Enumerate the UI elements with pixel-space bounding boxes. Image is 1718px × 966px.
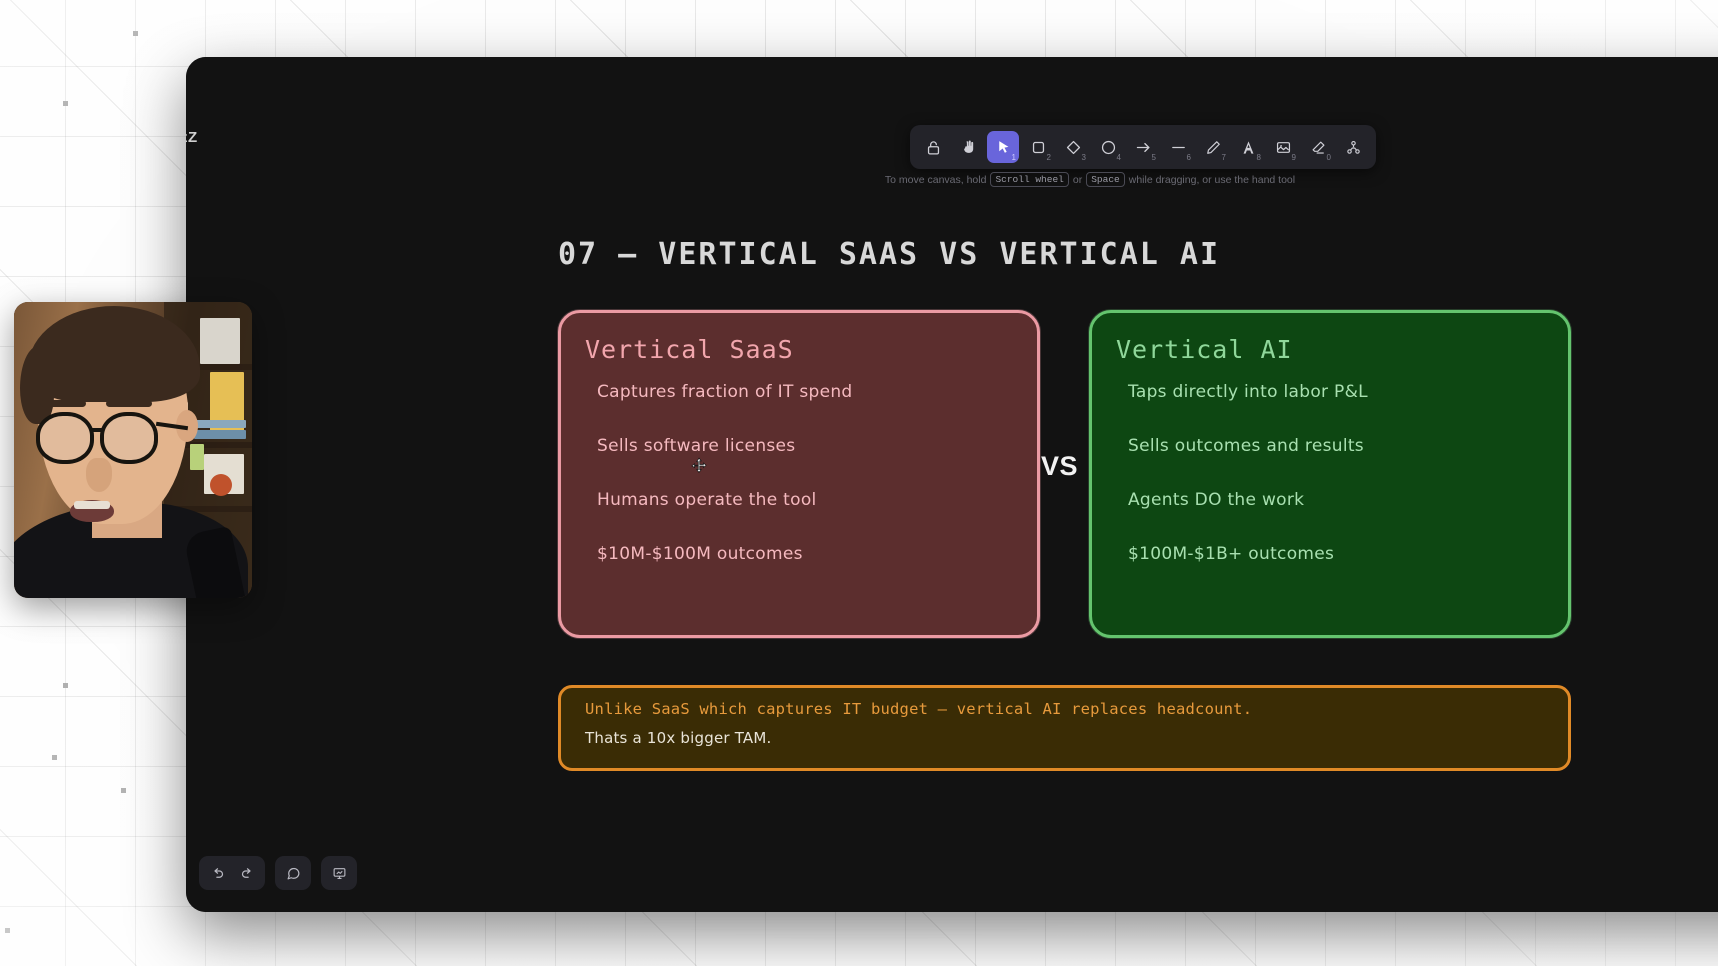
presenter-eyebrow xyxy=(40,400,86,407)
list-item: Sells software licenses xyxy=(597,436,1013,456)
hint-middle: or xyxy=(1073,174,1082,186)
presenter-teeth xyxy=(74,501,110,509)
callout-box[interactable]: Unlike SaaS which captures IT budget — v… xyxy=(558,685,1571,771)
card-vertical-saas[interactable]: Vertical SaaS Captures fraction of IT sp… xyxy=(558,310,1040,638)
text-icon[interactable]: 8 xyxy=(1232,131,1264,163)
hint-key-space: Space xyxy=(1086,172,1125,187)
tool-shortcut: 7 xyxy=(1222,153,1226,162)
card-title: Vertical AI xyxy=(1116,335,1544,364)
excalidraw-window: zZ 1 2 3 xyxy=(186,57,1718,912)
card-title: Vertical SaaS xyxy=(585,335,1013,364)
hand-icon[interactable] xyxy=(952,131,984,163)
list-item: Sells outcomes and results xyxy=(1128,436,1544,456)
presenter-webcam-overlay[interactable] xyxy=(14,302,252,598)
tool-shortcut: 6 xyxy=(1187,153,1191,162)
history-button-group xyxy=(199,856,265,890)
presenter-nose xyxy=(86,458,112,492)
line-icon[interactable]: 6 xyxy=(1162,131,1194,163)
list-item: Agents DO the work xyxy=(1128,490,1544,510)
arrow-icon[interactable]: 5 xyxy=(1127,131,1159,163)
tool-shortcut: 1 xyxy=(1012,153,1016,162)
move-cursor-icon xyxy=(690,457,708,475)
tool-shortcut: 2 xyxy=(1047,153,1051,162)
hint-suffix: while dragging, or use the hand tool xyxy=(1129,174,1295,186)
card-bullet-list: Captures fraction of IT spend Sells soft… xyxy=(585,382,1013,564)
lock-icon[interactable] xyxy=(917,131,949,163)
list-item: $10M-$100M outcomes xyxy=(597,544,1013,564)
callout-secondary-text: Thats a 10x bigger TAM. xyxy=(585,729,1544,747)
tool-shortcut: 3 xyxy=(1082,153,1086,162)
comment-button-group xyxy=(275,856,311,890)
comment-button[interactable] xyxy=(279,860,307,886)
window-corner-label: zZ xyxy=(186,129,198,146)
list-item: $100M-$1B+ outcomes xyxy=(1128,544,1544,564)
tool-shortcut: 9 xyxy=(1292,153,1296,162)
undo-button[interactable] xyxy=(203,860,231,886)
card-bullet-list: Taps directly into labor P&L Sells outco… xyxy=(1116,382,1544,564)
tool-shortcut: 5 xyxy=(1152,153,1156,162)
presenter-hair-side xyxy=(20,346,54,424)
list-item: Humans operate the tool xyxy=(597,490,1013,510)
image-icon[interactable]: 9 xyxy=(1267,131,1299,163)
list-item: Captures fraction of IT spend xyxy=(597,382,1013,402)
canvas-hint: To move canvas, hold Scroll wheel or Spa… xyxy=(910,172,1270,187)
presentation-button[interactable] xyxy=(325,860,353,886)
page-title: 07 — VERTICAL SAAS VS VERTICAL AI xyxy=(558,237,1220,272)
eyeglasses-lens-right xyxy=(100,412,158,464)
eyeglasses-bridge xyxy=(92,428,104,432)
tool-palette: 1 2 3 4 5 xyxy=(910,125,1376,169)
tool-shortcut: 4 xyxy=(1117,153,1121,162)
rectangle-icon[interactable]: 2 xyxy=(1022,131,1054,163)
selection-icon[interactable]: 1 xyxy=(987,131,1019,163)
presenter-figure xyxy=(14,302,252,598)
list-item: Taps directly into labor P&L xyxy=(1128,382,1544,402)
presenter-eyebrow xyxy=(106,400,152,407)
hint-prefix: To move canvas, hold xyxy=(885,174,987,186)
vs-divider-label: VS xyxy=(1041,451,1078,482)
eraser-icon[interactable]: 0 xyxy=(1302,131,1334,163)
card-vertical-ai[interactable]: Vertical AI Taps directly into labor P&L… xyxy=(1089,310,1571,638)
tool-shortcut: 0 xyxy=(1327,153,1331,162)
tool-shortcut: 8 xyxy=(1257,153,1261,162)
callout-primary-text: Unlike SaaS which captures IT budget — v… xyxy=(585,700,1544,718)
redo-button[interactable] xyxy=(233,860,261,886)
diamond-icon[interactable]: 3 xyxy=(1057,131,1089,163)
presentation-button-group xyxy=(321,856,357,890)
eyeglasses-lens-left xyxy=(36,412,94,464)
hint-key-scroll-wheel: Scroll wheel xyxy=(990,172,1068,187)
ellipse-icon[interactable]: 4 xyxy=(1092,131,1124,163)
bottom-toolbar xyxy=(199,856,357,890)
frame-icon[interactable] xyxy=(1337,131,1369,163)
draw-icon[interactable]: 7 xyxy=(1197,131,1229,163)
